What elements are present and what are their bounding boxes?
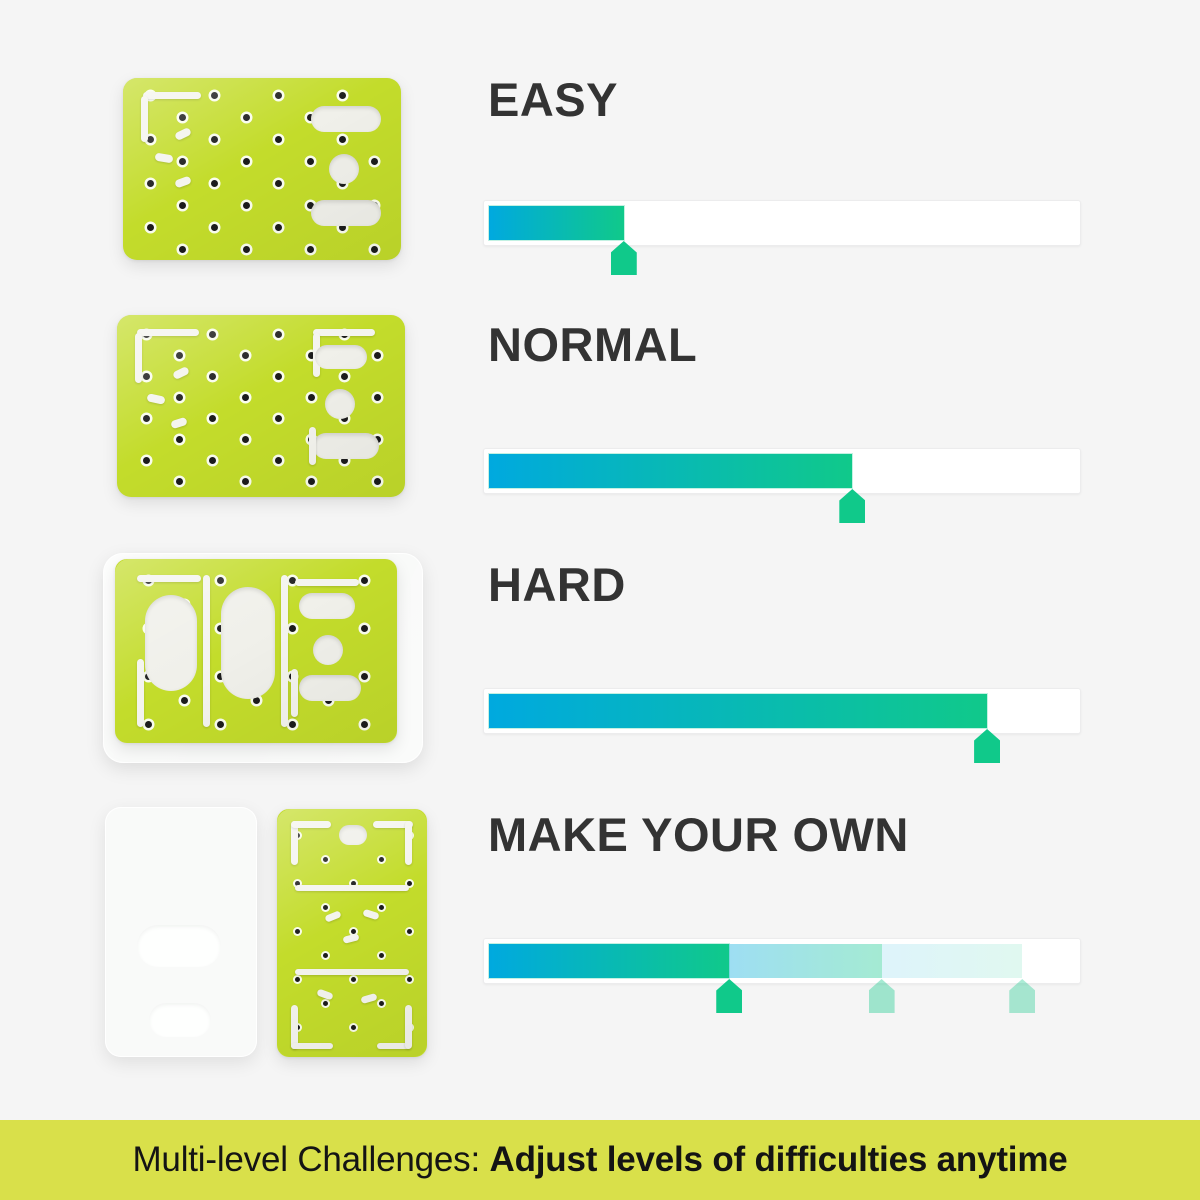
level-row-normal: NORMAL <box>0 305 1200 555</box>
peg-hole-icon <box>209 373 216 380</box>
difficulty-slider-normal[interactable] <box>483 448 1081 494</box>
maze-wall-icon <box>137 575 201 582</box>
peg-hole-icon <box>209 331 216 338</box>
peg-hole-icon <box>243 158 250 165</box>
peg-hole-icon <box>295 929 300 934</box>
peg-hole-icon <box>179 202 186 209</box>
goal-slot-icon <box>311 200 381 226</box>
product-photo-easy <box>95 60 455 310</box>
caption-lead: Multi-level Challenges: <box>132 1140 489 1179</box>
maze-wall-icon <box>324 910 341 922</box>
slider-fill-segment <box>489 944 729 978</box>
maze-wall-icon <box>154 152 173 163</box>
peg-hole-icon <box>361 625 368 632</box>
lid-slot-upper <box>137 925 221 967</box>
goal-slot-icon <box>311 106 381 132</box>
goal-slot-icon <box>221 587 275 699</box>
slider-fill-segment <box>729 944 881 978</box>
peg-hole-icon <box>179 114 186 121</box>
peg-hole-icon <box>143 457 150 464</box>
maze-wall-icon <box>316 988 333 1000</box>
peg-hole-icon <box>371 158 378 165</box>
clear-lid-separate <box>105 807 257 1057</box>
goal-hole-icon <box>329 154 359 184</box>
peg-hole-icon <box>407 977 412 982</box>
slider-track[interactable] <box>483 688 1081 734</box>
peg-hole-icon <box>323 857 328 862</box>
maze-wall-icon <box>362 909 379 921</box>
peg-hole-icon <box>181 697 188 704</box>
maze-wall-icon <box>135 333 142 383</box>
maze-board-easy <box>123 78 401 260</box>
caption-emphasis: Adjust levels of difficulties anytime <box>490 1140 1068 1179</box>
peg-hole-icon <box>147 224 154 231</box>
peg-hole-icon <box>176 436 183 443</box>
slider-track[interactable] <box>483 200 1081 246</box>
slider-fill-group <box>489 454 1075 488</box>
slider-fill-group <box>489 944 1075 978</box>
maze-wall-icon <box>309 427 316 465</box>
peg-hole-icon <box>275 136 282 143</box>
caption-bar: Multi-level Challenges: Adjust levels of… <box>0 1120 1200 1200</box>
peg-hole-icon <box>176 394 183 401</box>
peg-hole-icon <box>242 352 249 359</box>
peg-hole-icon <box>307 158 314 165</box>
maze-wall-icon <box>141 96 148 142</box>
maze-board-hard <box>115 559 397 743</box>
peg-hole-icon <box>308 478 315 485</box>
maze-wall-icon <box>405 821 412 865</box>
peg-hole-icon <box>243 246 250 253</box>
goal-slot-icon <box>299 593 355 619</box>
level-label-hard: HARD <box>488 557 626 612</box>
maze-wall-icon <box>295 885 409 891</box>
slider-marker-icon[interactable] <box>716 979 742 1013</box>
slider-fill-group <box>489 206 1075 240</box>
maze-wall-icon <box>143 92 201 99</box>
caption-text: Multi-level Challenges: Adjust levels of… <box>132 1140 1067 1180</box>
peg-hole-icon <box>361 577 368 584</box>
level-row-easy: EASY <box>0 60 1200 310</box>
peg-hole-icon <box>209 415 216 422</box>
maze-board-make-your-own <box>277 809 427 1057</box>
peg-hole-icon <box>176 478 183 485</box>
product-photo-hard <box>95 545 455 800</box>
peg-hole-icon <box>217 721 224 728</box>
peg-hole-icon <box>242 478 249 485</box>
peg-hole-icon <box>211 224 218 231</box>
slider-marker-icon[interactable] <box>611 241 637 275</box>
slider-fill-segment <box>489 454 852 488</box>
goal-slot-icon <box>299 675 361 701</box>
peg-hole-icon <box>147 136 154 143</box>
goal-slot-icon <box>339 825 367 845</box>
goal-hole-icon <box>325 389 355 419</box>
peg-hole-icon <box>407 929 412 934</box>
maze-wall-icon <box>295 579 359 586</box>
peg-hole-icon <box>339 92 346 99</box>
peg-hole-icon <box>242 394 249 401</box>
maze-wall-icon <box>170 417 188 430</box>
maze-wall-icon <box>172 366 190 380</box>
maze-wall-icon <box>146 393 165 405</box>
slider-fill-segment <box>489 694 987 728</box>
maze-wall-icon <box>342 933 359 944</box>
slider-marker-icon[interactable] <box>869 979 895 1013</box>
maze-wall-icon <box>291 1043 333 1049</box>
goal-slot-icon <box>315 345 367 369</box>
difficulty-slider-easy[interactable] <box>483 200 1081 246</box>
slider-track[interactable] <box>483 448 1081 494</box>
peg-hole-icon <box>243 202 250 209</box>
peg-hole-icon <box>275 180 282 187</box>
peg-hole-icon <box>323 1001 328 1006</box>
product-photo-make-your-own <box>95 795 455 1070</box>
peg-hole-icon <box>209 457 216 464</box>
peg-hole-icon <box>361 673 368 680</box>
peg-hole-icon <box>289 625 296 632</box>
maze-wall-icon <box>360 993 377 1004</box>
peg-hole-icon <box>374 352 381 359</box>
peg-hole-icon <box>211 136 218 143</box>
peg-hole-icon <box>374 394 381 401</box>
peg-hole-icon <box>379 953 384 958</box>
product-photo-normal <box>95 305 455 555</box>
difficulty-slider-make-your-own[interactable] <box>483 938 1081 984</box>
peg-hole-icon <box>295 977 300 982</box>
peg-hole-icon <box>242 436 249 443</box>
peg-hole-icon <box>323 953 328 958</box>
peg-hole-icon <box>275 92 282 99</box>
peg-hole-icon <box>243 114 250 121</box>
lid-slot-lower <box>149 1003 211 1037</box>
peg-hole-icon <box>211 180 218 187</box>
slider-marker-icon[interactable] <box>974 729 1000 763</box>
peg-hole-icon <box>147 180 154 187</box>
slider-track[interactable] <box>483 938 1081 984</box>
peg-hole-icon <box>179 246 186 253</box>
level-label-normal: NORMAL <box>488 317 697 372</box>
difficulty-levels-infographic: EASY NORMAL HARD <box>0 0 1200 1200</box>
peg-hole-icon <box>275 415 282 422</box>
peg-hole-icon <box>211 92 218 99</box>
level-row-hard: HARD <box>0 545 1200 800</box>
peg-hole-icon <box>379 905 384 910</box>
peg-hole-icon <box>145 721 152 728</box>
peg-hole-icon <box>323 905 328 910</box>
slider-fill-segment <box>882 944 1023 978</box>
slider-fill-segment <box>489 206 624 240</box>
maze-board-normal <box>117 315 405 497</box>
level-row-make-your-own: MAKE YOUR OWN <box>0 795 1200 1070</box>
peg-hole-icon <box>275 373 282 380</box>
peg-hole-icon <box>379 857 384 862</box>
peg-hole-icon <box>339 136 346 143</box>
goal-slot-icon <box>313 433 379 459</box>
maze-wall-icon <box>291 821 331 828</box>
peg-hole-icon <box>217 577 224 584</box>
level-label-make-your-own: MAKE YOUR OWN <box>488 807 909 862</box>
slider-fill-group <box>489 694 1075 728</box>
peg-hole-icon <box>308 394 315 401</box>
slider-marker-icon[interactable] <box>839 489 865 523</box>
level-label-easy: EASY <box>488 72 618 127</box>
maze-wall-icon <box>291 669 298 717</box>
maze-wall-icon <box>174 127 192 141</box>
maze-wall-icon <box>281 575 288 727</box>
peg-hole-icon <box>143 415 150 422</box>
peg-hole-icon <box>307 246 314 253</box>
maze-wall-icon <box>137 329 199 336</box>
peg-hole-icon <box>275 331 282 338</box>
peg-hole-icon <box>176 352 183 359</box>
maze-wall-icon <box>405 1005 412 1049</box>
peg-hole-icon <box>275 224 282 231</box>
maze-wall-icon <box>295 969 409 975</box>
goal-slot-icon <box>145 595 197 691</box>
peg-hole-icon <box>341 373 348 380</box>
peg-hole-icon <box>143 373 150 380</box>
peg-hole-icon <box>379 1001 384 1006</box>
goal-hole-icon <box>313 635 343 665</box>
peg-hole-icon <box>289 721 296 728</box>
peg-hole-icon <box>351 977 356 982</box>
maze-wall-icon <box>313 329 375 336</box>
peg-hole-icon <box>361 721 368 728</box>
maze-wall-icon <box>174 176 192 189</box>
difficulty-slider-hard[interactable] <box>483 688 1081 734</box>
peg-hole-icon <box>371 246 378 253</box>
maze-wall-icon <box>203 575 210 727</box>
slider-marker-icon[interactable] <box>1009 979 1035 1013</box>
peg-hole-icon <box>351 1025 356 1030</box>
peg-hole-icon <box>275 457 282 464</box>
peg-hole-icon <box>179 158 186 165</box>
peg-hole-icon <box>374 478 381 485</box>
maze-wall-icon <box>137 659 144 727</box>
